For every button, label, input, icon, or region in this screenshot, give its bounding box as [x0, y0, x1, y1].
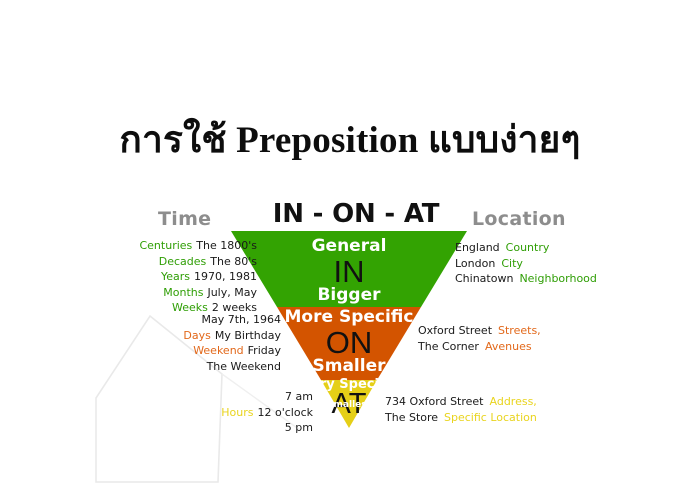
band-label-preposition-in: IN [231, 255, 467, 289]
example-row: EnglandCountry [455, 240, 597, 256]
time-examples-at: 7 amHours12 o'clock5 pm [60, 389, 313, 436]
example-row: MonthsJuly, May [60, 285, 257, 301]
example-row: DecadesThe 80's [60, 254, 257, 270]
example-value: My Birthday [215, 329, 281, 342]
example-value: Oxford Street [418, 324, 492, 337]
example-value: 1970, 1981 [194, 270, 257, 283]
example-category: Country [506, 241, 550, 254]
example-row: LondonCity [455, 256, 597, 272]
example-row: 5 pm [60, 420, 313, 436]
example-value: Friday [248, 344, 281, 357]
example-row: DaysMy Birthday [60, 328, 281, 344]
example-row: WeekendFriday [60, 343, 281, 359]
location-examples-in: EnglandCountryLondonCityChinatownNeighbo… [455, 240, 597, 287]
column-header-time: Time [158, 208, 211, 230]
example-row: Hours12 o'clock [60, 405, 313, 421]
example-row: 7 am [60, 389, 313, 405]
example-row: Oxford StreetStreets, [418, 323, 541, 339]
column-header-prepositions: IN - ON - AT [258, 199, 454, 229]
example-value: Chinatown [455, 272, 513, 285]
example-row: May 7th, 1964 [60, 312, 281, 328]
example-row: ChinatownNeighborhood [455, 271, 597, 287]
example-category: Decades [159, 255, 207, 268]
example-row: The CornerAvenues [418, 339, 541, 355]
example-value: The Weekend [207, 360, 281, 373]
example-category: Avenues [485, 340, 532, 353]
example-value: London [455, 257, 495, 270]
location-examples-on: Oxford StreetStreets,The CornerAvenues [418, 323, 541, 354]
example-value: The 80's [210, 255, 257, 268]
example-value: 5 pm [285, 421, 313, 434]
example-category: Years [161, 270, 190, 283]
example-category: Address, [490, 395, 537, 408]
page-title: การใช้ Preposition แบบง่ายๆ [0, 118, 700, 164]
band-label-bigger: Bigger [231, 285, 467, 305]
band-label-general: General [231, 236, 467, 256]
location-examples-at: 734 Oxford StreetAddress,The StoreSpecif… [385, 394, 537, 425]
infographic-page: การใช้ Preposition แบบง่ายๆ Time IN - ON… [0, 0, 700, 486]
example-row: CenturiesThe 1800's [60, 238, 257, 254]
example-category: Centuries [139, 239, 192, 252]
example-value: July, May [207, 286, 257, 299]
example-category: City [501, 257, 523, 270]
column-header-location: Location [472, 208, 566, 230]
example-category: Months [163, 286, 203, 299]
example-value: The Corner [418, 340, 479, 353]
example-value: 734 Oxford Street [385, 395, 484, 408]
example-value: The Store [385, 411, 438, 424]
example-category: Specific Location [444, 411, 537, 424]
example-category: Hours [221, 406, 253, 419]
example-category: Days [183, 329, 210, 342]
time-examples-on: May 7th, 1964DaysMy BirthdayWeekendFrida… [60, 312, 281, 374]
example-value: 7 am [285, 390, 313, 403]
example-value: May 7th, 1964 [201, 313, 281, 326]
example-value: England [455, 241, 500, 254]
example-row: Years1970, 1981 [60, 269, 257, 285]
example-row: The Weekend [60, 359, 281, 375]
example-category: Neighborhood [519, 272, 596, 285]
example-row: 734 Oxford StreetAddress, [385, 394, 537, 410]
example-category: Streets, [498, 324, 541, 337]
example-value: The 1800's [196, 239, 257, 252]
example-row: The StoreSpecific Location [385, 410, 537, 426]
example-category: Weekend [193, 344, 243, 357]
time-examples-in: CenturiesThe 1800'sDecadesThe 80'sYears1… [60, 238, 257, 316]
example-value: 12 o'clock [258, 406, 314, 419]
